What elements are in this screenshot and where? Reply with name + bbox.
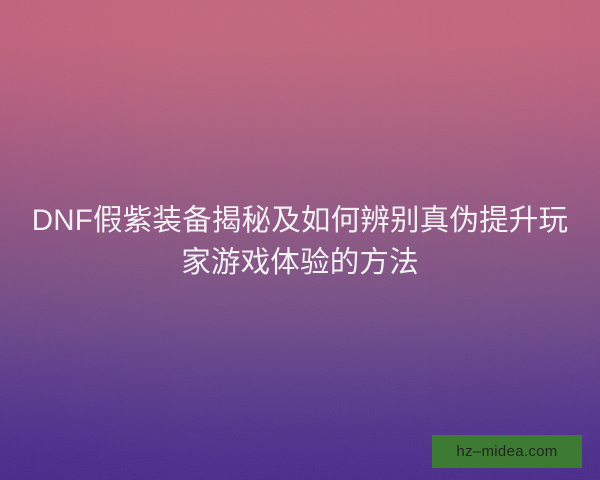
cover-image-canvas: DNF假紫装备揭秘及如何辨别真伪提升玩 家游戏体验的方法 hz–midea.co… xyxy=(0,0,600,480)
watermark-label: hz–midea.com xyxy=(456,443,557,460)
title-block: DNF假紫装备揭秘及如何辨别真伪提升玩 家游戏体验的方法 xyxy=(0,200,600,284)
title-line-2: 家游戏体验的方法 xyxy=(24,242,576,284)
watermark-badge: hz–midea.com xyxy=(432,435,582,468)
title-line-1: DNF假紫装备揭秘及如何辨别真伪提升玩 xyxy=(24,200,576,242)
